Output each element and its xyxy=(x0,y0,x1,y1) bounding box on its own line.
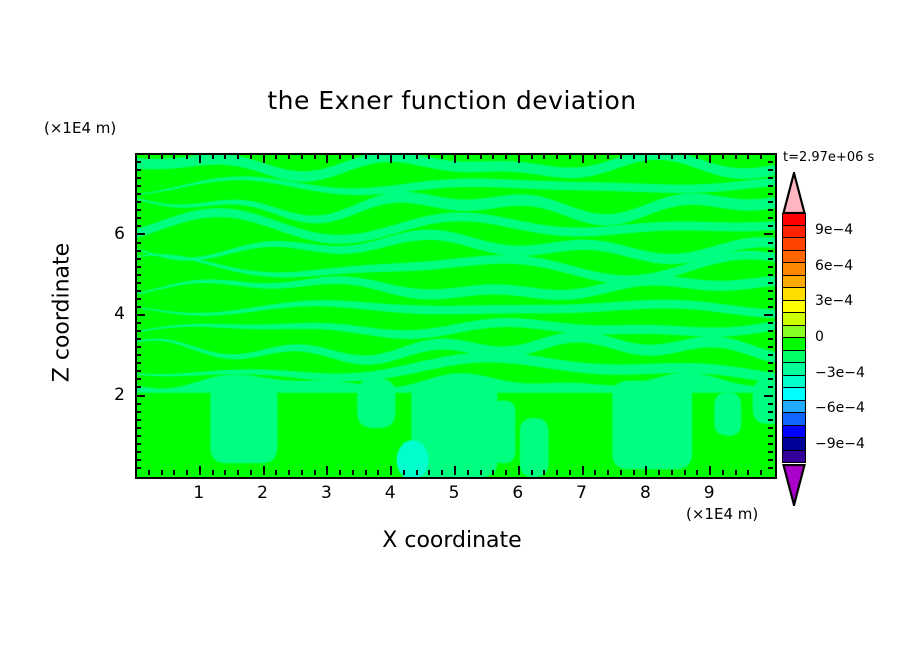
tick-mark xyxy=(390,466,392,475)
tick-mark xyxy=(768,177,773,179)
tick-mark xyxy=(768,225,773,227)
tick-mark xyxy=(136,209,141,211)
tick-mark xyxy=(212,470,214,475)
colorbar-tick-label: 0 xyxy=(815,329,824,345)
tick-mark xyxy=(136,266,141,268)
colorbar-tick-label: −3e−4 xyxy=(815,365,865,381)
tick-mark xyxy=(518,466,520,475)
colorbar-band xyxy=(782,438,806,451)
tick-mark xyxy=(454,154,456,163)
tick-mark xyxy=(768,217,773,219)
tick-mark xyxy=(173,154,175,159)
tick-mark xyxy=(352,154,354,159)
tick-mark xyxy=(454,466,456,475)
tick-mark xyxy=(620,470,622,475)
colorbar-band xyxy=(782,238,806,251)
tick-mark xyxy=(212,154,214,159)
tick-mark xyxy=(301,470,303,475)
tick-mark xyxy=(671,154,673,159)
tick-mark xyxy=(136,467,141,469)
tick-mark xyxy=(136,258,141,260)
tick-mark xyxy=(275,154,277,159)
tick-mark xyxy=(326,154,328,163)
x-tick-label: 8 xyxy=(625,483,665,503)
figure-canvas: the Exner function deviation (×1E4 m) Z … xyxy=(0,0,904,654)
colorbar-tick-label: 9e−4 xyxy=(815,222,853,238)
tick-mark xyxy=(136,330,141,332)
tick-mark xyxy=(136,362,141,364)
tick-mark xyxy=(237,470,239,475)
tick-mark xyxy=(480,470,482,475)
tick-mark xyxy=(768,266,773,268)
tick-mark xyxy=(136,201,141,203)
tick-mark xyxy=(768,338,773,340)
tick-mark xyxy=(136,419,141,421)
tick-mark xyxy=(505,154,507,159)
tick-mark xyxy=(199,154,201,163)
tick-mark xyxy=(671,470,673,475)
colorbar-tick-label: −6e−4 xyxy=(815,400,865,416)
timestamp-annotation: t=2.97e+06 s xyxy=(783,150,874,165)
tick-mark xyxy=(136,386,141,388)
x-axis-title: X coordinate xyxy=(0,528,904,553)
tick-mark xyxy=(250,470,252,475)
y-tick-label: 4 xyxy=(85,304,125,324)
tick-mark xyxy=(768,451,773,453)
tick-mark xyxy=(735,470,737,475)
tick-mark xyxy=(768,427,773,429)
tick-mark xyxy=(365,154,367,159)
tick-mark xyxy=(722,470,724,475)
tick-mark xyxy=(136,250,141,252)
colorbar-band xyxy=(782,413,806,426)
tick-mark xyxy=(275,470,277,475)
tick-mark xyxy=(768,201,773,203)
tick-mark xyxy=(594,470,596,475)
tick-mark xyxy=(768,209,773,211)
tick-mark xyxy=(764,233,773,235)
tick-mark xyxy=(161,470,163,475)
colorbar-band xyxy=(782,301,806,314)
tick-mark xyxy=(250,154,252,159)
tick-mark xyxy=(136,435,141,437)
tick-mark xyxy=(339,154,341,159)
tick-mark xyxy=(314,154,316,159)
tick-mark xyxy=(263,466,265,475)
tick-mark xyxy=(768,459,773,461)
tick-mark xyxy=(594,154,596,159)
tick-mark xyxy=(136,314,145,316)
x-axis-unit-label: (×1E4 m) xyxy=(686,505,758,523)
tick-mark xyxy=(768,378,773,380)
tick-mark xyxy=(768,169,773,171)
colorbar-band xyxy=(782,326,806,339)
colorbar-band xyxy=(782,313,806,326)
colorbar xyxy=(782,213,806,463)
colorbar-band xyxy=(782,263,806,276)
colorbar-band xyxy=(782,426,806,439)
x-tick-label: 4 xyxy=(370,483,410,503)
tick-mark xyxy=(709,154,711,163)
chart-title: the Exner function deviation xyxy=(0,86,904,115)
tick-mark xyxy=(136,274,141,276)
tick-mark xyxy=(556,154,558,159)
tick-mark xyxy=(136,177,141,179)
tick-mark xyxy=(339,470,341,475)
tick-mark xyxy=(684,154,686,159)
tick-mark xyxy=(764,314,773,316)
tick-mark xyxy=(620,154,622,159)
tick-mark xyxy=(288,470,290,475)
tick-mark xyxy=(684,470,686,475)
tick-mark xyxy=(148,470,150,475)
tick-mark xyxy=(173,470,175,475)
tick-mark xyxy=(569,470,571,475)
tick-mark xyxy=(416,154,418,159)
tick-mark xyxy=(607,470,609,475)
y-tick-label: 6 xyxy=(85,224,125,244)
colorbar-band xyxy=(782,363,806,376)
tick-mark xyxy=(768,306,773,308)
tick-mark xyxy=(768,193,773,195)
tick-mark xyxy=(136,395,145,397)
tick-mark xyxy=(136,354,141,356)
colorbar-tick-label: −9e−4 xyxy=(815,436,865,452)
tick-mark xyxy=(518,154,520,163)
x-tick-label: 5 xyxy=(434,483,474,503)
x-tick-label: 9 xyxy=(689,483,729,503)
tick-mark xyxy=(224,154,226,159)
tick-mark xyxy=(492,154,494,159)
tick-mark xyxy=(186,470,188,475)
tick-mark xyxy=(768,346,773,348)
tick-mark xyxy=(136,346,141,348)
tick-mark xyxy=(768,322,773,324)
tick-mark xyxy=(768,435,773,437)
tick-mark xyxy=(658,154,660,159)
colorbar-band xyxy=(782,388,806,401)
colorbar-band xyxy=(782,288,806,301)
tick-mark xyxy=(199,466,201,475)
tick-mark xyxy=(768,443,773,445)
tick-mark xyxy=(760,154,762,159)
tick-mark xyxy=(569,154,571,159)
tick-mark xyxy=(377,470,379,475)
tick-mark xyxy=(314,470,316,475)
tick-mark xyxy=(505,470,507,475)
colorbar-band xyxy=(782,351,806,364)
x-tick-label: 7 xyxy=(562,483,602,503)
tick-mark xyxy=(492,470,494,475)
tick-mark xyxy=(768,185,773,187)
tick-mark xyxy=(768,411,773,413)
tick-mark xyxy=(768,274,773,276)
tick-mark xyxy=(768,370,773,372)
tick-mark xyxy=(136,443,141,445)
colorbar-band xyxy=(782,226,806,239)
tick-mark xyxy=(136,306,141,308)
colorbar-band xyxy=(782,213,806,226)
tick-mark xyxy=(658,470,660,475)
tick-mark xyxy=(722,154,724,159)
tick-mark xyxy=(136,322,141,324)
tick-mark xyxy=(768,467,773,469)
tick-mark xyxy=(403,470,405,475)
tick-mark xyxy=(136,427,141,429)
tick-mark xyxy=(480,154,482,159)
tick-mark xyxy=(301,154,303,159)
tick-mark xyxy=(582,154,584,163)
tick-mark xyxy=(136,459,141,461)
tick-mark xyxy=(556,470,558,475)
tick-mark xyxy=(428,470,430,475)
tick-mark xyxy=(326,466,328,475)
tick-mark xyxy=(768,419,773,421)
tick-mark xyxy=(467,470,469,475)
tick-mark xyxy=(543,154,545,159)
tick-mark xyxy=(747,154,749,159)
tick-mark xyxy=(768,282,773,284)
tick-mark xyxy=(607,154,609,159)
tick-mark xyxy=(136,370,141,372)
tick-mark xyxy=(136,242,141,244)
contour-plot-area xyxy=(135,153,777,479)
tick-mark xyxy=(696,154,698,159)
contour-field xyxy=(137,155,775,477)
tick-mark xyxy=(764,395,773,397)
x-tick-label: 1 xyxy=(179,483,219,503)
tick-mark xyxy=(136,298,141,300)
tick-mark xyxy=(377,154,379,159)
tick-mark xyxy=(288,154,290,159)
y-tick-label: 2 xyxy=(85,385,125,405)
tick-mark xyxy=(136,193,141,195)
colorbar-band xyxy=(782,251,806,264)
tick-mark xyxy=(709,466,711,475)
tick-mark xyxy=(768,362,773,364)
y-axis-unit-label: (×1E4 m) xyxy=(44,119,116,137)
tick-mark xyxy=(136,451,141,453)
tick-mark xyxy=(148,154,150,159)
tick-mark xyxy=(768,403,773,405)
colorbar-band xyxy=(782,338,806,351)
tick-mark xyxy=(531,154,533,159)
tick-mark xyxy=(633,154,635,159)
colorbar-band xyxy=(782,376,806,389)
tick-mark xyxy=(136,217,141,219)
colorbar-tick-label: 3e−4 xyxy=(815,293,853,309)
tick-mark xyxy=(768,354,773,356)
y-axis-title: Z coordinate xyxy=(50,213,75,413)
tick-mark xyxy=(136,411,141,413)
tick-mark xyxy=(760,470,762,475)
colorbar-band xyxy=(782,276,806,289)
tick-mark xyxy=(768,242,773,244)
tick-mark xyxy=(136,282,141,284)
tick-mark xyxy=(531,470,533,475)
colorbar-tick-label: 6e−4 xyxy=(815,258,853,274)
tick-mark xyxy=(747,470,749,475)
tick-mark xyxy=(136,290,141,292)
tick-mark xyxy=(735,154,737,159)
tick-mark xyxy=(136,185,141,187)
tick-mark xyxy=(543,470,545,475)
tick-mark xyxy=(428,154,430,159)
tick-mark xyxy=(633,470,635,475)
tick-mark xyxy=(582,466,584,475)
tick-mark xyxy=(768,161,773,163)
tick-mark xyxy=(224,470,226,475)
tick-mark xyxy=(390,154,392,163)
x-tick-label: 2 xyxy=(243,483,283,503)
colorbar-band xyxy=(782,401,806,414)
tick-mark xyxy=(768,290,773,292)
tick-mark xyxy=(136,338,141,340)
tick-mark xyxy=(136,225,141,227)
x-tick-label: 6 xyxy=(498,483,538,503)
x-tick-label: 3 xyxy=(306,483,346,503)
tick-mark xyxy=(136,378,141,380)
tick-mark xyxy=(768,258,773,260)
colorbar-band xyxy=(782,451,806,464)
tick-mark xyxy=(768,386,773,388)
tick-mark xyxy=(467,154,469,159)
tick-mark xyxy=(136,403,141,405)
tick-mark xyxy=(441,470,443,475)
tick-mark xyxy=(416,470,418,475)
tick-mark xyxy=(136,161,141,163)
tick-mark xyxy=(645,154,647,163)
tick-mark xyxy=(237,154,239,159)
tick-mark xyxy=(768,250,773,252)
tick-mark xyxy=(161,154,163,159)
tick-mark xyxy=(136,233,145,235)
tick-mark xyxy=(263,154,265,163)
tick-mark xyxy=(352,470,354,475)
tick-mark xyxy=(186,154,188,159)
tick-mark xyxy=(441,154,443,159)
tick-mark xyxy=(768,298,773,300)
tick-mark xyxy=(403,154,405,159)
tick-mark xyxy=(136,169,141,171)
tick-mark xyxy=(696,470,698,475)
tick-mark xyxy=(768,330,773,332)
tick-mark xyxy=(645,466,647,475)
tick-mark xyxy=(365,470,367,475)
